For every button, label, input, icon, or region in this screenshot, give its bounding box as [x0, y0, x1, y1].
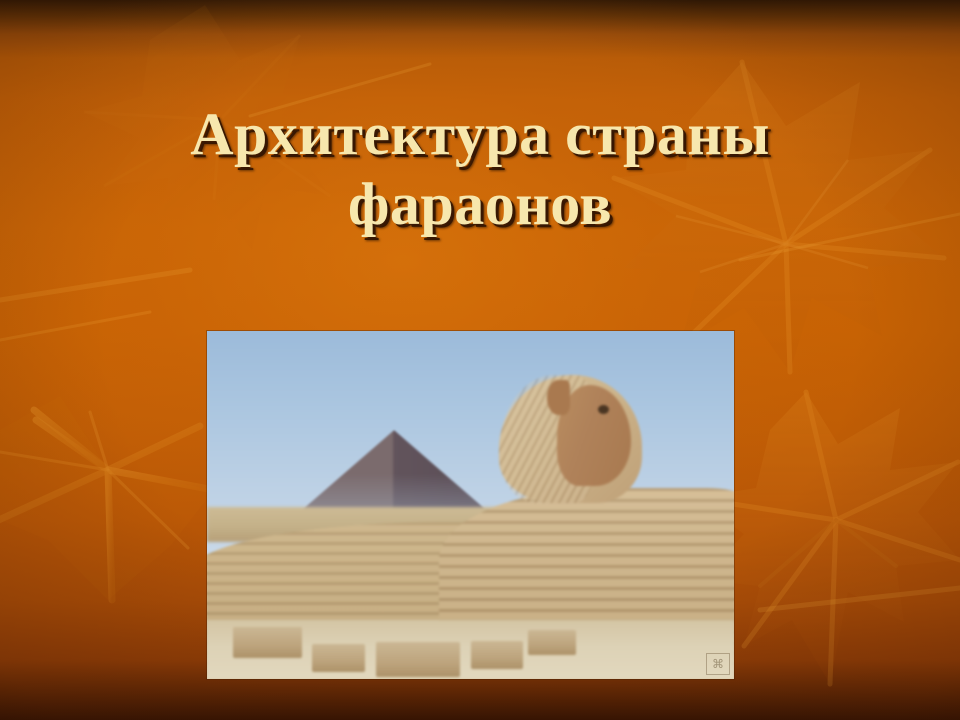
- sphinx-photo[interactable]: ⌘: [207, 331, 734, 679]
- title-line-1: Архитектура страны: [60, 104, 900, 164]
- stone-block: [471, 641, 524, 669]
- stone-block: [528, 630, 575, 654]
- sphinx-photo-canvas: ⌘: [207, 331, 734, 679]
- stone-block: [233, 627, 302, 658]
- stone-block: [376, 642, 460, 677]
- photo-watermark: ⌘: [706, 653, 730, 675]
- sphinx-eye: [598, 405, 609, 414]
- slide-title: Архитектура страны фараонов: [60, 104, 900, 234]
- stone-block: [312, 644, 365, 672]
- sphinx-ear: [547, 380, 569, 415]
- title-line-2: фараонов: [60, 174, 900, 234]
- title-slide: Архитектура страны фараонов ⌘: [0, 0, 960, 720]
